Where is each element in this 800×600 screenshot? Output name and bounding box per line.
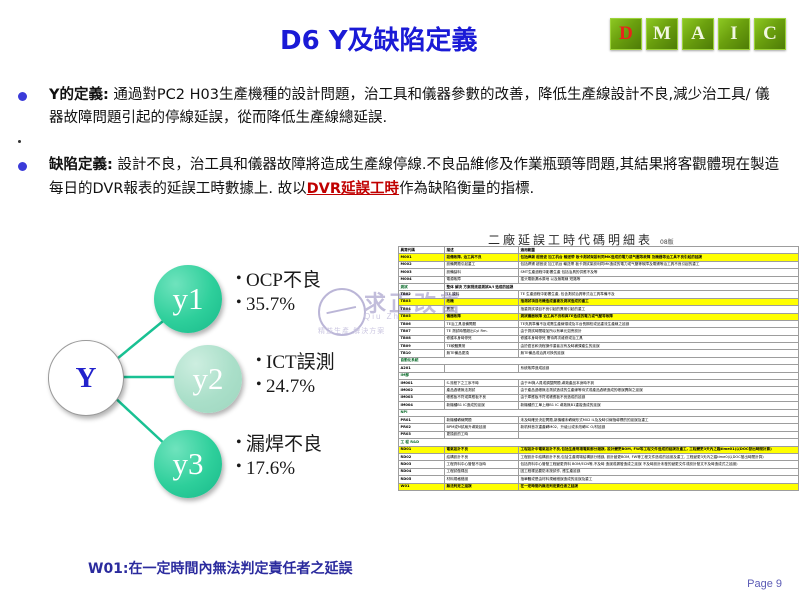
table-cell-desc [445, 365, 519, 372]
table-cell-desc: 設備缺料 [445, 269, 519, 276]
leaf-value-y1: 35.7% [246, 293, 295, 317]
leaf-label-y2: • ICT誤測 • 24.7% [256, 351, 335, 399]
table-row[interactable]: PR02BPM或M試扇升導致延誤新机种首次重產轉M02，升級公或未改轉IC O/… [399, 424, 799, 431]
table-row[interactable]: W01無法判定之延誤在一定時間內無法判定責任者之延誤 [399, 483, 799, 490]
table-cell-code: M002 [399, 261, 445, 268]
table-row[interactable]: RD02結構設計不良工程設計中結構設計不良,包括生產現場結構部分錯誤, 設計變更… [399, 453, 799, 460]
table-row[interactable]: TB08修護本身時停死修護本身時停死 需待再次維修或治工具 [399, 335, 799, 342]
dmaic-badge-m[interactable]: M [646, 18, 678, 50]
table-cell-scope: 在一定時間內無法判定責任者之延誤 [519, 483, 799, 490]
table-cell-scope: 包括焊錫 超音波 加工机台 輸送帶 板卡測試架設利同MK造成的電力或气壓等故障及… [519, 261, 799, 268]
table-cell-code: IM002 [399, 387, 445, 394]
table-row[interactable]: RD03工程資料中心管發不及時包括資料中心管發工程變更資料 BOM/ECN等,不… [399, 461, 799, 468]
table-cell-code: PR02 [399, 424, 445, 431]
table-cell-code: RD04 [399, 468, 445, 475]
dmaic-badge-a[interactable]: A [682, 18, 714, 50]
table-cell-desc: S.流程下之工序不時 [445, 380, 519, 387]
leaf-name-y1: OCP不良 [246, 269, 321, 293]
bullet-list: Y的定義: 通過對PC2 H03生產機種的設計問題，治工具和儀器參數的改善，降低… [18, 84, 784, 203]
table-row[interactable]: IM004新機種B1 IC造成的延誤新機種的工單上線B1 IC 導致無B1重複造… [399, 402, 799, 409]
table-section-label: 自動化系統 [399, 357, 799, 364]
table-cell-code: W01 [399, 483, 445, 490]
table-cell-desc: 設備故障, 治工具不良 [445, 254, 519, 261]
table-cell-code: RD01 [399, 446, 445, 453]
leaf-bullet-icon: • [256, 351, 266, 370]
node-root-y[interactable]: Y [48, 340, 124, 416]
table-header-cell-1: 描述 [445, 247, 519, 254]
table-cell-desc: 異測 [445, 306, 519, 313]
table-section-row[interactable]: NPI [399, 409, 799, 416]
table-cell-scope: 未及時確妥決定問題,新機種未轉線形式M02 IL及及時引線指導標的的延誤及重工 [519, 416, 799, 423]
leaf-name-y2: ICT誤測 [266, 351, 335, 375]
table-cell-scope: 新機種的工單上線B1 IC 導致無B1重複造成的延誤 [519, 402, 799, 409]
table-cell-desc: 產品過帳無法測試 [445, 387, 519, 394]
leaf-bullet-icon: • [236, 269, 246, 288]
table-row[interactable]: TB02TE 缺料TE 生產過程中影響生產, 包含測試治具等式治工具準備不及 [399, 291, 799, 298]
table-cell-scope: SMT生產過程中影響生產 包括治具的供應不及等 [519, 269, 799, 276]
table-cell-scope: 由于測試時間增加所以有單元如會設計 [519, 328, 799, 335]
table-cell-code: RD02 [399, 453, 445, 460]
table-cell-scope: 由於語言和流程操作重者沒有及時補課產生的延誤 [519, 343, 799, 350]
table-cell-code: PR03 [399, 431, 445, 438]
table-cell-desc: TE治工具准備問題 [445, 320, 519, 327]
table-row[interactable]: RD04工程試做樣品因工程樣品要防未按試作, 應生產延誤 [399, 468, 799, 475]
table-cell-scope [519, 431, 799, 438]
table-cell-code: 測試 [399, 283, 445, 290]
table-cell-desc: 新機種轉線問題 [445, 416, 519, 423]
table-cell-desc: 修護本身時停死 [445, 335, 519, 342]
table-cell-desc: 帳應板不符或庫應板不良 [445, 394, 519, 401]
table-header-row: 異常代碼描述適用範圍 [399, 247, 799, 254]
leaf-value-y3: 17.6% [246, 457, 295, 481]
table-cell-code: M001 [399, 254, 445, 261]
bullet-lead-y: Y的定義: [49, 87, 109, 103]
table-header-cell-0: 異常代碼 [399, 247, 445, 254]
table-cell-code: IM001 [399, 380, 445, 387]
table-row[interactable]: M002設備問題引起重工包括焊錫 超音波 加工机台 輸送帶 板卡測試架設利同MK… [399, 261, 799, 268]
table-cell-code: IM004 [399, 402, 445, 409]
diagram-footnote: W01:在一定時間內無法判定責任者之延誤 [88, 558, 353, 578]
table-section-row[interactable]: 自動化系統 [399, 357, 799, 364]
table-cell-code: PR01 [399, 416, 445, 423]
table-cell-desc: 無法判定之延誤 [445, 483, 519, 490]
table-cell-scope: TE夾具準備不及或需生產線領或及平台長期校或品重流生產線之延誤 [519, 320, 799, 327]
table-row[interactable]: TB03改機指測試項目改機造成重複及測試造成的重工 [399, 298, 799, 305]
leaf-bullet-icon: • [236, 457, 246, 476]
table-section-label: NPI [399, 409, 799, 416]
leaf-value-y2: 24.7% [266, 375, 315, 399]
table-cell-desc: 儀器故障 [445, 313, 519, 320]
table-section-label: IM部 [399, 372, 799, 379]
bullet-body-y: 通過對PC2 H03生產機種的設計問題，治工具和儀器參數的改善，降低生產線設計不… [49, 87, 770, 126]
table-cell-scope: 工程設計中結構設計不良,包括生產現場結構部分錯誤, 設計變更BOM, FW等工程… [519, 453, 799, 460]
table-cell-code: TB10 [399, 350, 445, 357]
table-cell-code: M004 [399, 276, 445, 283]
table-row[interactable]: IM001S.流程下之工序不時由于IM與人員或調整問題,導致產品本身時不到 [399, 380, 799, 387]
leaf-name-y3: 漏焊不良 [246, 433, 322, 457]
table-cell-desc: TE 缺料 [445, 291, 519, 298]
table-cell-scope: 無TE備品或治具可换的延誤 [519, 350, 799, 357]
table-cell-code: TB06 [399, 320, 445, 327]
table-cell-code: RD05 [399, 476, 445, 483]
bullet-text-defect: 缺陷定義: 設計不良，治工具和儀器故障將造成生產線停線.不良品維修及作業瓶頸等問… [49, 154, 784, 200]
table-cell-scope: 修護本身時停死 需待再次維修或治工具 [519, 335, 799, 342]
bullet-item-y-definition: Y的定義: 通過對PC2 H03生產機種的設計問題，治工具和儀器參數的改善，降低… [18, 84, 784, 130]
table-row[interactable]: A201系統故障造成延誤 [399, 365, 799, 372]
highlighted-metric-dvr: DVR延誤工時 [307, 181, 399, 197]
table-cell-scope: 包括焊錫 超音波 加工机台 輸送帶 板卡測試架設利同MK造成的電力或气壓等故障 … [519, 254, 799, 261]
bullet-dot-small-icon [18, 140, 21, 143]
table-row[interactable]: M001設備故障, 治工具不良包括焊錫 超音波 加工机台 輸送帶 板卡測試架設利… [399, 254, 799, 261]
table-section-row[interactable]: 測試整体 解決 方案視流或測試A/I 造成的延誤 [399, 283, 799, 290]
table-cell-scope: 指重測試項目不良引起的異常引起的重工 [519, 306, 799, 313]
table-cell-desc: 工程試做樣品 [445, 468, 519, 475]
table-cell-scope: 由于產品過帳無法測試造成的生產線等待式或產品過帳造成的帳誤異與之延誤 [519, 387, 799, 394]
delay-code-table-wrapper: 異常代碼描述適用範圍M001設備故障, 治工具不良包括焊錫 超音波 加工机台 輸… [398, 246, 798, 491]
table-row[interactable]: IM002產品過帳無法測試由于產品過帳無法測試造成的生產線等待式或產品過帳造成的… [399, 387, 799, 394]
node-y1[interactable]: y1 [154, 265, 222, 333]
table-cell-desc: 更換設的工時 [445, 431, 519, 438]
table-cell-desc: 工程資料中心管發不及時 [445, 461, 519, 468]
table-row[interactable]: RD01電氣設計不良工程設計中電氣設計不良,包括生產現場電氣部分錯誤, 設計變更… [399, 446, 799, 453]
table-row[interactable]: TB10無TE備品更換無TE備品或治具可换的延誤 [399, 350, 799, 357]
bullet-dot-icon [18, 92, 27, 101]
bullet-text-y: Y的定義: 通過對PC2 H03生產機種的設計問題，治工具和儀器參數的改善，降低… [49, 84, 784, 130]
table-version-label: 08版 [660, 237, 674, 246]
table-cell-code: M003 [399, 269, 445, 276]
table-cell-code: TB07 [399, 328, 445, 335]
table-cell-scope: 系統故障造成延誤 [519, 365, 799, 372]
bullet-dot-icon [18, 162, 27, 171]
y-tree-diagram: Y y1 y2 y3 • OCP不良 • 35.7% • ICT誤測 • 24.… [40, 255, 380, 535]
dmaic-badge-i[interactable]: I [718, 18, 750, 50]
table-cell-code: A201 [399, 365, 445, 372]
table-cell-desc: 設備問題引起重工 [445, 261, 519, 268]
table-row[interactable]: TB04異測指重測試項目不良引起的異常引起的重工 [399, 306, 799, 313]
table-cell-scope: 包括資料中心管發工程變更資料 BOM/ECN等,不及時 造誤或漏發造成之延誤 不… [519, 461, 799, 468]
table-cell-scope: TE 生產過程中影響生產, 包含測試治具等式治工具準備不及 [519, 291, 799, 298]
table-cell-code: TB04 [399, 306, 445, 313]
table-row[interactable]: M004電源故障插头電斷漏水原地 以及無電線 短路等 [399, 276, 799, 283]
slide-root: D6 Y及缺陷定義 D M A I C Y的定義: 通過對PC2 H03生產機種… [0, 0, 800, 600]
table-section-row[interactable]: IM部 [399, 372, 799, 379]
table-cell-desc: 材料規格錯誤 [445, 476, 519, 483]
table-cell-scope: 測試儀器故障 治工具不良和與TE造成的電力或气壓等故障 [519, 313, 799, 320]
table-cell-desc: TE 測試時間超出Cyl Rm. [445, 328, 519, 335]
leaf-label-y3: • 漏焊不良 • 17.6% [236, 433, 322, 481]
bullet-item-defect-definition: 缺陷定義: 設計不良，治工具和儀器故障將造成生產線停線.不良品維修及作業瓶頸等問… [18, 154, 784, 200]
table-cell-scope: 指單體或是由材料規格錯誤造成的延誤及重工 [519, 476, 799, 483]
table-cell-scope: 整体 解決 方案視流或測試A/I 造成的延誤 [445, 283, 799, 290]
table-section-label: 工 程 R&D [399, 439, 799, 446]
table-cell-desc: 電源故障 [445, 276, 519, 283]
bullet-lead-defect: 缺陷定義: [49, 157, 113, 173]
dmaic-phase-indicator: D M A I C [610, 18, 786, 50]
table-cell-code: TB08 [399, 335, 445, 342]
table-cell-scope: 由于IM與人員或調整問題,導致產品本身時不到 [519, 380, 799, 387]
table-cell-desc: 新機種B1 IC造成的延誤 [445, 402, 519, 409]
table-row[interactable]: TB06TE治工具准備問題TE夾具準備不及或需生產線領或及平台長期校或品重流生產… [399, 320, 799, 327]
table-section-row[interactable]: 工 程 R&D [399, 439, 799, 446]
delay-code-table-body: 異常代碼描述適用範圍M001設備故障, 治工具不良包括焊錫 超音波 加工机台 輸… [399, 247, 799, 491]
table-cell-code: TB09 [399, 343, 445, 350]
table-cell-code: IM003 [399, 394, 445, 401]
leaf-bullet-icon: • [236, 433, 246, 452]
table-cell-desc: 改機 [445, 298, 519, 305]
leaf-bullet-icon: • [236, 293, 246, 312]
table-cell-scope: 工程設計中電氣設計不良,包括生產現場電氣部分錯誤, 設計變更BOM, FW等工程… [519, 446, 799, 453]
table-row[interactable]: TB05儀器故障測試儀器故障 治工具不良和與TE造成的電力或气壓等故障 [399, 313, 799, 320]
leaf-label-y1: • OCP不良 • 35.7% [236, 269, 321, 317]
table-cell-scope: 插头電斷漏水原地 以及無電線 短路等 [519, 276, 799, 283]
table-row[interactable]: PR01新機種轉線問題未及時確妥決定問題,新機種未轉線形式M02 IL及及時引線… [399, 416, 799, 423]
table-cell-desc: TE軟體異常 [445, 343, 519, 350]
table-cell-code: RD03 [399, 461, 445, 468]
table-cell-desc: 結構設計不良 [445, 453, 519, 460]
dmaic-badge-d[interactable]: D [610, 18, 642, 50]
page-title: D6 Y及缺陷定義 [280, 20, 580, 57]
node-y2[interactable]: y2 [174, 345, 242, 413]
table-header-cell-2: 適用範圍 [519, 247, 799, 254]
table-row[interactable]: TB07TE 測試時間超出Cyl Rm.由于測試時間增加所以有單元如會設計 [399, 328, 799, 335]
table-row[interactable]: IM003帳應板不符或庫應板不良由于庫應板不符或帳應板不良造成的延誤 [399, 394, 799, 401]
table-row[interactable]: TB09TE軟體異常由於語言和流程操作重者沒有及時補課產生的延誤 [399, 343, 799, 350]
table-row[interactable]: RD05材料規格錯誤指單體或是由材料規格錯誤造成的延誤及重工 [399, 476, 799, 483]
bullet-item-empty [18, 132, 784, 152]
table-cell-scope: 由于庫應板不符或帳應板不良造成的延誤 [519, 394, 799, 401]
table-cell-desc: 電氣設計不良 [445, 446, 519, 453]
table-cell-desc: 無TE備品更換 [445, 350, 519, 357]
table-cell-scope: 指測試項目改機造成重複及測試造成的重工 [519, 298, 799, 305]
delay-code-table: 異常代碼描述適用範圍M001設備故障, 治工具不良包括焊錫 超音波 加工机台 輸… [398, 246, 799, 491]
table-row[interactable]: M003設備缺料SMT生產過程中影響生產 包括治具的供應不及等 [399, 269, 799, 276]
node-y3[interactable]: y3 [154, 430, 222, 498]
table-cell-code: TB03 [399, 298, 445, 305]
table-cell-desc: BPM或M試扇升導致延誤 [445, 424, 519, 431]
page-number: Page 9 [747, 578, 782, 590]
table-cell-scope: 因工程樣品要防未按試作, 應生產延誤 [519, 468, 799, 475]
table-row[interactable]: PR03更換設的工時 [399, 431, 799, 438]
dmaic-badge-c[interactable]: C [754, 18, 786, 50]
bullet-body-defect-post: 作為缺陷衡量的指標. [399, 181, 534, 197]
table-cell-code: TB02 [399, 291, 445, 298]
table-cell-scope: 新机种首次重產轉M02，升級公或未改轉IC O/材延誤 [519, 424, 799, 431]
table-cell-code: TB05 [399, 313, 445, 320]
leaf-bullet-icon: • [256, 375, 266, 394]
